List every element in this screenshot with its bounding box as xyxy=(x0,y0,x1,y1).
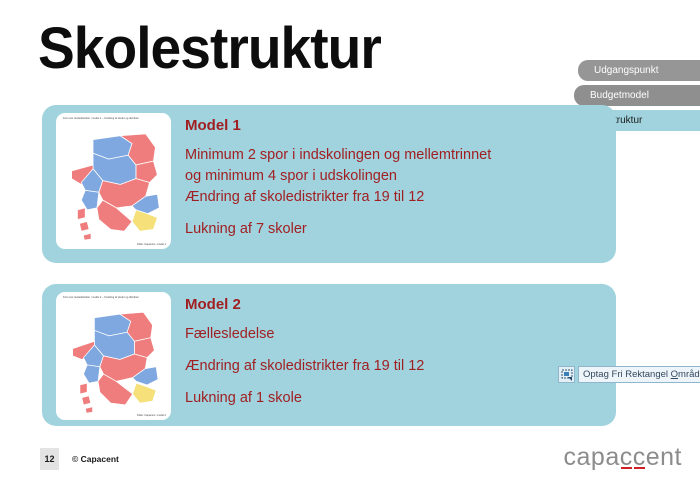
map-caption-top: Kort over skoledistrikter i model 1 – fo… xyxy=(59,117,168,126)
brand-accent-2: c xyxy=(633,443,646,471)
map-thumbnail-model-2[interactable]: Kort over skoledistrikter i model 2 – fo… xyxy=(56,292,171,420)
capture-tooltip-label: Optag Fri Rektangel Område xyxy=(578,366,700,383)
page-title: Skolestruktur xyxy=(38,18,381,80)
model-2-line-2: Ændring af skoledistrikter fra 19 til 12 xyxy=(185,356,424,377)
nav-tab-budgetmodel[interactable]: Budgetmodel xyxy=(574,85,700,106)
model-1-heading: Model 1 xyxy=(185,117,491,134)
model-1-closing-line: Lukning af 7 skoler xyxy=(185,219,491,240)
brand-part-1: capa xyxy=(564,443,620,471)
municipality-map-svg xyxy=(59,305,168,414)
nav-tab-label: Budgetmodel xyxy=(590,90,649,101)
map-caption-bottom: Kilde: Capacent, model 1 xyxy=(137,243,166,246)
model-2-closing-line: Lukning af 1 skole xyxy=(185,388,424,409)
model-2-heading: Model 2 xyxy=(185,296,424,313)
nav-tab-label: Udgangspunkt xyxy=(594,65,659,76)
rectangle-capture-icon[interactable] xyxy=(558,366,575,383)
brand-accent-1: c xyxy=(620,443,633,471)
capture-label-accesskey: O xyxy=(671,369,678,380)
municipality-map-svg xyxy=(59,126,168,243)
rectangle-capture-glyph xyxy=(561,369,573,381)
model-panel-2: Kort over skoledistrikter i model 2 – fo… xyxy=(42,284,616,426)
capacent-logo: capaccent xyxy=(564,443,682,471)
page-number-badge: 12 xyxy=(40,448,59,470)
model-1-line-2: og minimum 4 spor i udskolingen xyxy=(185,166,491,187)
map-caption-bottom: Kilde: Capacent, model 2 xyxy=(137,414,166,417)
map-caption-top: Kort over skoledistrikter i model 2 – fo… xyxy=(59,296,168,305)
capture-label-suffix: mråde xyxy=(678,369,700,380)
nav-tab-udgangspunkt[interactable]: Udgangspunkt xyxy=(578,60,700,81)
model-panel-1: Kort over skoledistrikter i model 1 – fo… xyxy=(42,105,616,263)
model-1-line-3: Ændring af skoledistrikter fra 19 til 12 xyxy=(185,187,491,208)
capture-toolbar[interactable]: Optag Fri Rektangel Område xyxy=(558,365,700,384)
brand-part-3: ent xyxy=(646,443,682,471)
model-1-line-1: Minimum 2 spor i indskolingen og mellemt… xyxy=(185,145,491,166)
map-thumbnail-model-1[interactable]: Kort over skoledistrikter i model 1 – fo… xyxy=(56,113,171,249)
model-2-text-block: Model 2 Fællesledelse Ændring af skoledi… xyxy=(171,292,424,409)
copyright-text: © Capacent xyxy=(72,454,119,464)
map-graphic xyxy=(59,305,168,414)
capture-label-prefix: Optag Fri Rektangel xyxy=(583,369,671,380)
map-graphic xyxy=(59,126,168,243)
model-2-line-1: Fællesledelse xyxy=(185,324,424,345)
model-1-text-block: Model 1 Minimum 2 spor i indskolingen og… xyxy=(171,113,491,240)
